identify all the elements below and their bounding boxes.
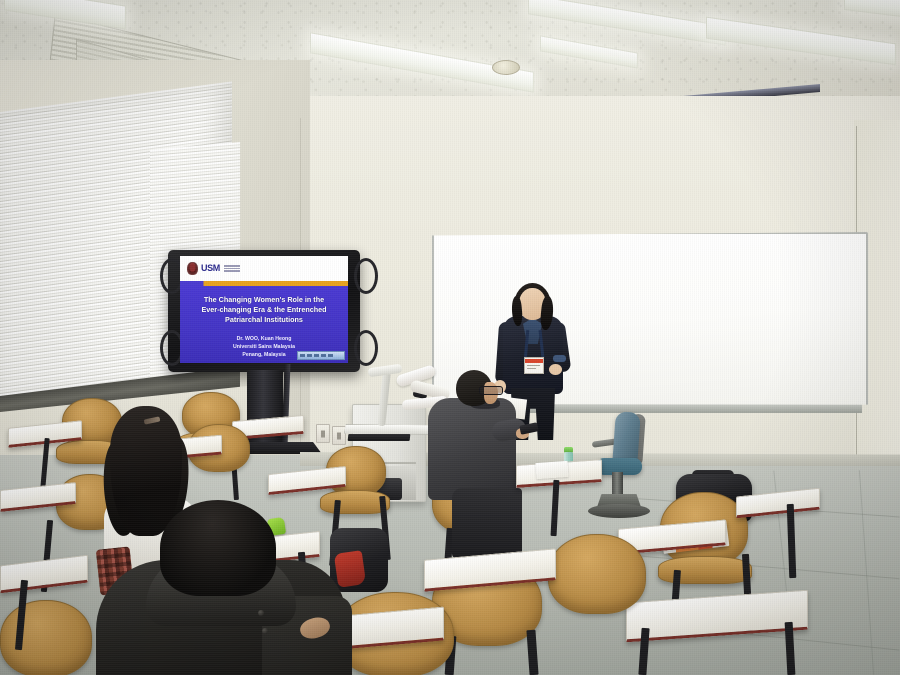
slide-title: The Changing Women's Role in the Ever-ch… <box>180 295 348 326</box>
usm-logo-subtext <box>224 265 240 272</box>
wall-outlet-1[interactable] <box>316 424 330 443</box>
classroom-photo: USM The Changing Women's Role in the Eve… <box>0 0 900 675</box>
display-handle-right <box>354 258 378 294</box>
badge-text-line-1 <box>527 365 540 366</box>
chair-backrest <box>548 534 646 614</box>
seated-man-lap <box>452 488 522 558</box>
chair-backrest <box>0 600 92 675</box>
seated-man-sweater <box>428 398 516 500</box>
badge-header-band <box>525 359 543 363</box>
wall-outlet-2[interactable] <box>332 426 346 445</box>
papers-on-desk[interactable] <box>535 461 568 479</box>
usm-crest-icon <box>187 262 198 275</box>
slide-author: Dr. WOO, Kuan Heong <box>180 335 348 343</box>
foreground-man-hair <box>160 500 276 596</box>
keyboard-tray[interactable] <box>348 434 411 441</box>
foreground-woman-hair <box>110 406 182 536</box>
slide-title-line-1: The Changing Women's Role in the <box>188 295 340 305</box>
presenter-right-hand <box>549 364 562 375</box>
slide-header-band: USM <box>180 256 348 281</box>
office-chair-base <box>588 504 650 518</box>
presentation-toolbar[interactable] <box>297 351 345 360</box>
usm-logo-text: USM <box>201 264 220 273</box>
jacket-button-2 <box>262 628 268 634</box>
presenter-name-badge <box>524 357 544 374</box>
slide-title-line-3: Patriarchal Institutions <box>188 315 340 325</box>
slide-screen[interactable]: USM The Changing Women's Role in the Eve… <box>180 256 348 363</box>
slide-title-line-2: Ever-changing Era & the Entrenched <box>188 305 340 315</box>
badge-text-line-2 <box>527 368 536 369</box>
jacket-button-1 <box>258 610 264 616</box>
backpack-red-panel <box>334 550 366 588</box>
glasses-icon <box>479 386 503 395</box>
slide-affiliation: Universiti Sains Malaysia <box>180 343 348 351</box>
display-handle-right-bottom <box>354 330 378 366</box>
chair-seat <box>658 556 752 584</box>
smoke-detector <box>492 60 520 75</box>
presenter-shirt-cuff <box>553 355 566 362</box>
